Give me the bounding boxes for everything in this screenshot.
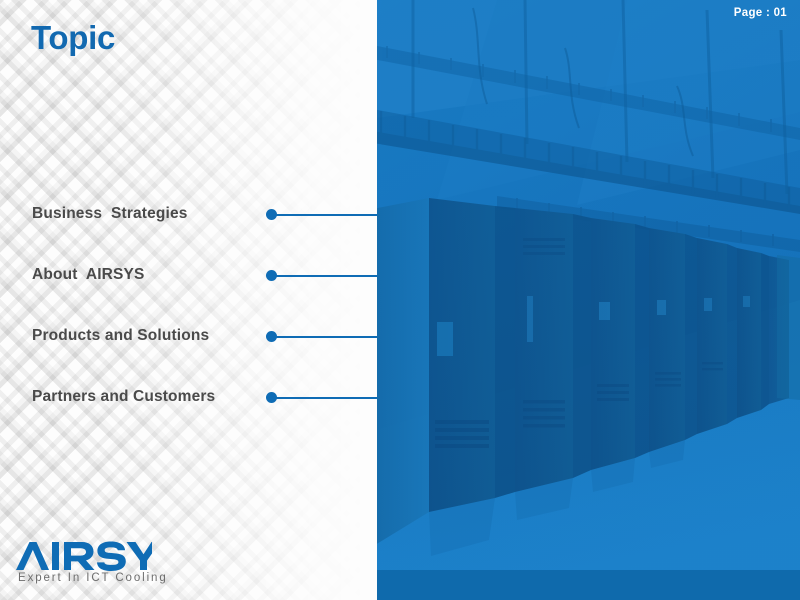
topic-item-business-strategies[interactable]: Business Strategies (0, 198, 377, 259)
connector-line (275, 397, 377, 400)
connector-line (275, 214, 377, 217)
topic-item-about-airsys[interactable]: About AIRSYS (0, 259, 377, 320)
logo-tagline: Expert In ICT Cooling (16, 572, 168, 584)
topic-connector (266, 392, 377, 404)
topic-connector (266, 331, 377, 343)
footer-band (377, 570, 800, 600)
data-center-photo-illustration (377, 0, 800, 600)
connector-line (275, 336, 377, 339)
connector-line (275, 275, 377, 278)
slide-canvas: Topic Business Strategies About AIRSYS P… (0, 0, 800, 600)
topic-item-label: Business Strategies (32, 205, 187, 223)
data-center-photo (377, 0, 800, 600)
topic-item-label: Partners and Customers (32, 388, 215, 406)
topic-item-products-and-solutions[interactable]: Products and Solutions (0, 320, 377, 381)
topic-item-label: About AIRSYS (32, 266, 144, 284)
topic-list: Business Strategies About AIRSYS Product… (0, 198, 377, 442)
topic-item-partners-and-customers[interactable]: Partners and Customers (0, 381, 377, 442)
page-number: Page : 01 (734, 7, 787, 19)
airsys-wordmark-icon (16, 541, 152, 571)
page-title: Topic (31, 20, 115, 56)
airsys-logo: Expert In ICT Cooling (16, 541, 168, 584)
topic-connector (266, 270, 377, 282)
topic-item-label: Products and Solutions (32, 327, 209, 345)
topic-connector (266, 209, 377, 221)
